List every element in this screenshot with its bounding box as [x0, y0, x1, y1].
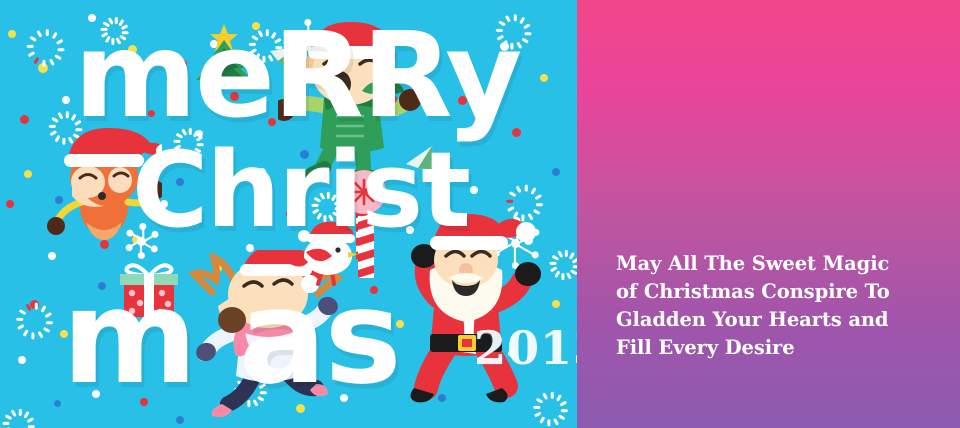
year-label: 2013 — [474, 321, 577, 375]
message-line-2: of Christmas Conspire To — [616, 278, 916, 306]
headline-word-christ: Christ — [132, 138, 469, 242]
confetti-dot — [20, 115, 29, 124]
message-line-1: May All The Sweet Magic — [616, 250, 916, 278]
confetti-dot — [18, 356, 26, 364]
confetti-dot — [100, 240, 109, 249]
message-line-4: Fill Every Desire — [616, 334, 916, 362]
message-line-3: Gladden Your Hearts and — [616, 306, 916, 334]
headline-word-merry: meRRy — [74, 16, 520, 134]
message-panel: May All The Sweet Magic of Christmas Con… — [577, 0, 960, 428]
burst-decoration — [0, 408, 34, 428]
illustration-panel: meRRy Christ m as 2013 — [0, 0, 577, 428]
confetti-dot — [552, 300, 560, 308]
confetti-dot — [62, 96, 70, 104]
confetti-dot — [540, 74, 548, 82]
christmas-greeting-card: meRRy Christ m as 2013 May All The Sweet… — [0, 0, 960, 428]
burst-decoration — [548, 250, 577, 280]
confetti-dot — [54, 400, 61, 407]
headline-word-mas: m as — [62, 272, 400, 402]
confetti-dot — [552, 168, 560, 176]
confetti-dot — [48, 252, 56, 260]
burst-decoration — [22, 26, 66, 70]
greeting-message: May All The Sweet Magic of Christmas Con… — [616, 250, 916, 362]
confetti-dot — [470, 186, 478, 194]
confetti-dot — [8, 30, 16, 38]
confetti-dot — [6, 200, 14, 208]
confetti-dot — [24, 170, 32, 178]
burst-decoration — [12, 300, 54, 342]
